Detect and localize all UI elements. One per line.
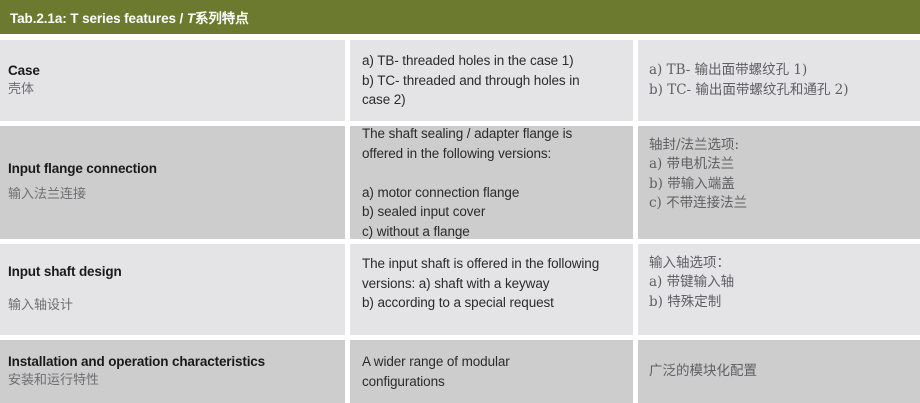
caption-prefix: Tab.2.1a: T series features / bbox=[10, 11, 187, 26]
t-series-features-table: Tab.2.1a: T series features / T系列特点 Case… bbox=[0, 0, 920, 403]
table-row: Case 壳体 a) TB- threaded holes in the cas… bbox=[0, 40, 920, 121]
description-cn: a) TB- 输出面带螺纹孔 1) b) TC- 输出面带螺纹孔和通孔 2) bbox=[649, 61, 910, 99]
table-caption-bar: Tab.2.1a: T series features / T系列特点 bbox=[0, 0, 920, 34]
table-row: Input shaft design 输入轴设计 The input shaft… bbox=[0, 244, 920, 335]
row-description-cn-cell: a) TB- 输出面带螺纹孔 1) b) TC- 输出面带螺纹孔和通孔 2) bbox=[638, 40, 920, 121]
row-description-en-cell: a) TB- threaded holes in the case 1) b) … bbox=[350, 40, 633, 121]
description-en: A wider range of modular configurations bbox=[362, 352, 623, 391]
row-term-cell: Input flange connection 输入法兰连接 bbox=[0, 126, 345, 239]
description-en: The input shaft is offered in the follow… bbox=[362, 254, 623, 313]
row-description-cn-cell: 轴封/法兰选项: a) 带电机法兰 b) 带输入端盖 c) 不带连接法兰 bbox=[638, 126, 920, 239]
term-label-en: Input shaft design bbox=[8, 264, 331, 281]
term-label-cn: 输入轴设计 bbox=[8, 298, 331, 315]
row-description-cn-cell: 输入轴选项： a) 带键输入轴 b) 特殊定制 bbox=[638, 244, 920, 335]
row-description-en-cell: The shaft sealing / adapter flange is of… bbox=[350, 126, 633, 239]
row-description-en-cell: The input shaft is offered in the follow… bbox=[350, 244, 633, 335]
row-term-cell: Input shaft design 输入轴设计 bbox=[0, 244, 345, 335]
caption-chinese: 系列特点 bbox=[195, 11, 249, 27]
table-row: Input flange connection 输入法兰连接 The shaft… bbox=[0, 126, 920, 239]
description-en: The shaft sealing / adapter flange is of… bbox=[362, 126, 623, 239]
description-cn: 轴封/法兰选项: a) 带电机法兰 b) 带输入端盖 c) 不带连接法兰 bbox=[649, 136, 910, 213]
term-label-cn: 壳体 bbox=[8, 82, 331, 99]
term-label-en: Case bbox=[8, 63, 331, 80]
description-cn: 输入轴选项： a) 带键输入轴 b) 特殊定制 bbox=[649, 254, 910, 311]
row-term-cell: Case 壳体 bbox=[0, 40, 345, 121]
row-description-en-cell: A wider range of modular configurations bbox=[350, 340, 633, 403]
term-label-en: Installation and operation characteristi… bbox=[8, 354, 331, 371]
row-term-cell: Installation and operation characteristi… bbox=[0, 340, 345, 403]
term-label-en: Input flange connection bbox=[8, 161, 331, 178]
table-row: Installation and operation characteristi… bbox=[0, 340, 920, 403]
table-caption-text: Tab.2.1a: T series features / T系列特点 bbox=[10, 7, 249, 27]
caption-italic-t: T bbox=[187, 11, 195, 26]
term-label-cn: 输入法兰连接 bbox=[8, 187, 331, 204]
term-label-cn: 安装和运行特性 bbox=[8, 373, 331, 390]
description-en: a) TB- threaded holes in the case 1) b) … bbox=[362, 51, 623, 110]
row-description-cn-cell: 广泛的模块化配置 bbox=[638, 340, 920, 403]
description-cn: 广泛的模块化配置 bbox=[649, 362, 910, 381]
